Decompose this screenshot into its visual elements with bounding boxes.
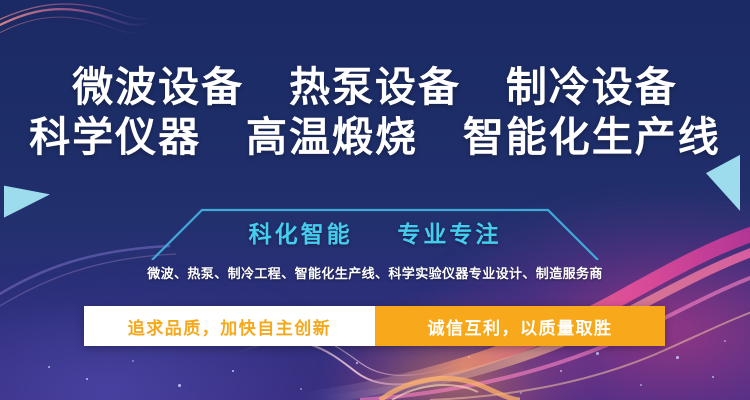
- subtitle-line: 科化智能 专业专注: [0, 219, 750, 249]
- slogan-panel-right[interactable]: 诚信互利，以质量取胜: [375, 306, 665, 346]
- slogan-right-text: 诚信互利，以质量取胜: [428, 314, 613, 339]
- headline-line-2: 科学仪器 高温煅烧 智能化生产线: [0, 112, 750, 162]
- headline-item-microwave: 微波设备: [72, 64, 244, 110]
- description-block: 微波、热泵、制冷工程、智能化生产线、科学实验仪器专业设计、制造服务商: [0, 263, 750, 282]
- subtitle-right: 专业专注: [397, 221, 501, 247]
- headline-block: 微波设备 热泵设备 制冷设备 科学仪器 高温煅烧 智能化生产线: [0, 62, 750, 162]
- subtitle-left: 科化智能: [249, 221, 353, 247]
- promo-banner: 微波设备 热泵设备 制冷设备 科学仪器 高温煅烧 智能化生产线 科化智能 专业专…: [0, 0, 750, 400]
- headline-item-refrigeration: 制冷设备: [506, 64, 678, 110]
- headline-line-1: 微波设备 热泵设备 制冷设备: [0, 62, 750, 112]
- subtitle-block: 科化智能 专业专注: [0, 219, 750, 249]
- slogan-panel-left[interactable]: 追求品质，加快自主创新: [84, 306, 375, 346]
- slogan-bar: 追求品质，加快自主创新 诚信互利，以质量取胜: [84, 306, 665, 346]
- headline-item-calcination: 高温煅烧: [246, 114, 418, 160]
- headline-item-smartline: 智能化生产线: [463, 114, 721, 160]
- headline-item-heatpump: 热泵设备: [289, 64, 461, 110]
- description-text: 微波、热泵、制冷工程、智能化生产线、科学实验仪器专业设计、制造服务商: [0, 263, 750, 282]
- headline-item-instruments: 科学仪器: [29, 114, 201, 160]
- slogan-left-text: 追求品质，加快自主创新: [128, 314, 332, 339]
